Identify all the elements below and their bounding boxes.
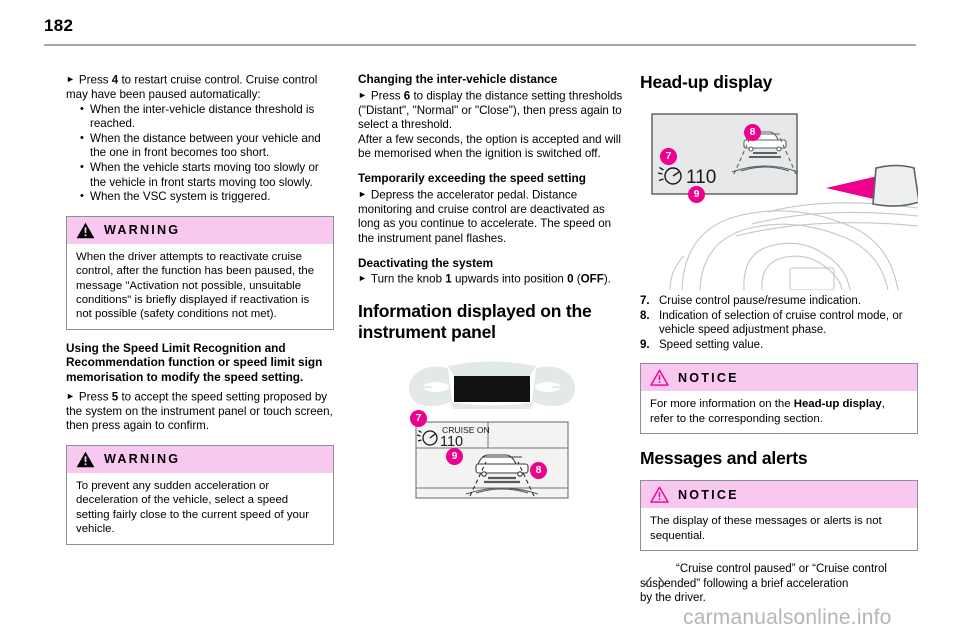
column-2: Changing the inter-vehicle distance ►Pre… (358, 72, 626, 506)
notice-title: NOTICE (678, 371, 739, 385)
notice-body: For more information on the Head-up disp… (641, 391, 917, 433)
heading-deactivating-system: Deactivating the system (358, 256, 626, 271)
distance-memorised-paragraph: After a few seconds, the option is accep… (358, 133, 626, 162)
list-item: When the distance between your vehicle a… (80, 132, 334, 161)
warning-triangle-icon (76, 451, 95, 468)
warning-header: WARNING (67, 446, 333, 473)
text: ). (604, 273, 611, 286)
callout-badge-7: 7 (660, 148, 677, 165)
speed-limit-lead-heading: Using the Speed Limit Recognition and Re… (66, 341, 334, 385)
arrow-bullet-icon: ► (66, 391, 75, 401)
text: Press (79, 74, 112, 87)
header-divider (44, 44, 916, 46)
head-up-display-figure: 110 8 7 9 (640, 102, 918, 290)
text: ( (574, 273, 581, 286)
text: upwards into position (452, 273, 567, 286)
notice-title: NOTICE (678, 488, 739, 502)
heading-inter-vehicle-distance: Changing the inter-vehicle distance (358, 72, 626, 87)
legend-number: 7. (640, 294, 650, 309)
notice-box-head-up-display: NOTICE For more information on the Head-… (640, 363, 918, 434)
legend-text: Indication of selection of cruise contro… (659, 310, 903, 337)
projection-beam-icon (826, 176, 878, 200)
arrow-bullet-icon: ► (358, 189, 367, 199)
legend-text: Speed setting value. (659, 339, 763, 351)
notice-triangle-icon (650, 486, 669, 503)
arrow-bullet-icon: ► (358, 273, 367, 283)
text: Press (79, 390, 112, 403)
page-number: 182 (44, 16, 73, 36)
message-text-tail: by the driver. (640, 591, 918, 606)
alert-strokes-icon (642, 574, 668, 588)
heading-exceeding-speed: Temporarily exceeding the speed setting (358, 171, 626, 186)
section-title-instrument-panel: Information displayed on the instrument … (358, 301, 626, 343)
warning-box-reactivation: WARNING When the driver attempts to reac… (66, 216, 334, 330)
emphasis: Head-up display (794, 398, 882, 410)
list-item: When the vehicle starts moving too slowl… (80, 161, 334, 190)
list-item: When the VSC system is triggered. (80, 190, 334, 205)
warning-triangle-icon (76, 222, 95, 239)
notice-box-messages: NOTICE The display of these messages or … (640, 480, 918, 551)
text: Press (371, 89, 404, 102)
message-text: “Cruise control paused” or “Cruise contr… (640, 562, 918, 591)
instrument-display-panel: CRUISE ON 110 (416, 422, 568, 498)
pause-conditions-list: When the inter-vehicle distance threshol… (80, 103, 334, 205)
head-up-display-legend: 7.Cruise control pause/resume indication… (640, 294, 918, 352)
control-ref: OFF (581, 273, 604, 286)
arrow-bullet-icon: ► (358, 90, 367, 100)
warning-box-acceleration: WARNING To prevent any sudden accelerati… (66, 445, 334, 545)
notice-header: NOTICE (641, 481, 917, 508)
text: Depress the accelerator pedal. Distance … (358, 188, 611, 245)
section-title-messages-alerts: Messages and alerts (640, 448, 918, 469)
site-watermark: carmanualsonline.info (683, 606, 892, 630)
restart-cruise-paragraph: ►Press 4 to restart cruise control. Crui… (66, 72, 334, 103)
notice-body: The display of these messages or alerts … (641, 508, 917, 550)
text: Turn the knob (371, 273, 445, 286)
hud-speed-value: 110 (686, 167, 716, 188)
warning-title: WARNING (104, 452, 180, 466)
message-paragraph-row: “Cruise control paused” or “Cruise contr… (640, 562, 918, 606)
hud-combiner-glass (873, 166, 918, 207)
distance-setting-paragraph: ►Press 6 to display the distance setting… (358, 88, 626, 133)
manual-page: 182 ►Press 4 to restart cruise control. … (0, 0, 960, 640)
warning-body: When the driver attempts to reactivate c… (67, 244, 333, 329)
callout-badge-9: 9 (688, 186, 705, 203)
text: For more information on the (650, 398, 794, 410)
instrument-panel-figure: CRUISE ON 110 7 9 8 (358, 352, 626, 504)
instrument-panel-illustration: CRUISE ON 110 (358, 352, 626, 504)
legend-text: Cruise control pause/resume indication. (659, 295, 861, 307)
arrow-bullet-icon: ► (66, 74, 75, 84)
deactivate-paragraph: ►Turn the knob 1 upwards into position 0… (358, 271, 626, 287)
warning-body: To prevent any sudden acceleration or de… (67, 473, 333, 544)
cluster-silhouette-icon (409, 362, 575, 410)
legend-item-8: 8.Indication of selection of cruise cont… (640, 309, 918, 338)
callout-badge-8: 8 (744, 124, 761, 141)
legend-item-9: 9.Speed setting value. (640, 338, 918, 353)
column-1: ►Press 4 to restart cruise control. Crui… (66, 72, 334, 556)
list-item: When the inter-vehicle distance threshol… (80, 103, 334, 132)
legend-item-7: 7.Cruise control pause/resume indication… (640, 294, 918, 309)
warning-header: WARNING (67, 217, 333, 244)
warning-title: WARNING (104, 223, 180, 237)
notice-triangle-icon (650, 369, 669, 386)
accept-speed-setting-paragraph: ►Press 5 to accept the speed setting pro… (66, 389, 334, 434)
notice-header: NOTICE (641, 364, 917, 391)
section-title-head-up-display: Head-up display (640, 72, 918, 93)
exceed-speed-paragraph: ►Depress the accelerator pedal. Distance… (358, 187, 626, 247)
head-up-display-illustration: 110 (640, 102, 918, 290)
legend-number: 9. (640, 338, 650, 353)
column-3: Head-up display (640, 72, 918, 606)
legend-number: 8. (640, 309, 650, 324)
